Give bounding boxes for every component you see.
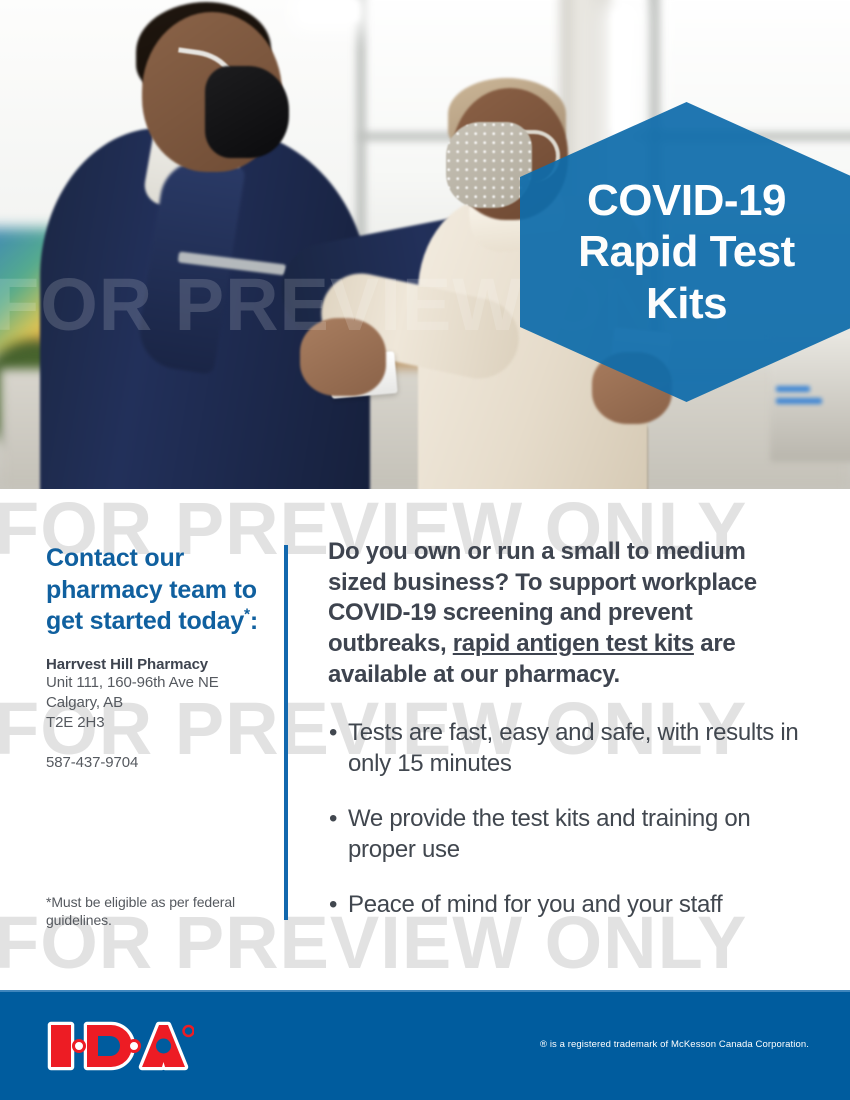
- list-item: We provide the test kits and training on…: [328, 803, 808, 865]
- contact-column: Contact our pharmacy team to get started…: [46, 543, 261, 771]
- column-divider: [284, 545, 288, 920]
- intro-paragraph: Do you own or run a small to medium size…: [328, 537, 808, 691]
- list-item: Tests are fast, easy and safe, with resu…: [328, 717, 808, 779]
- poster: FOR PREVIEW ONLY COVID-19 Rapid Test Kit…: [0, 0, 850, 1100]
- benefits-list: Tests are fast, easy and safe, with resu…: [328, 717, 808, 921]
- contact-heading: Contact our pharmacy team to get started…: [46, 543, 261, 638]
- pharmacy-name: Harrvest Hill Pharmacy: [46, 656, 261, 673]
- address-line: Calgary, AB: [46, 693, 261, 713]
- heading-colon: :: [250, 607, 258, 635]
- footer-top-rule: [0, 990, 850, 992]
- hero-photo: FOR PREVIEW ONLY COVID-19 Rapid Test Kit…: [0, 0, 850, 489]
- address-line: Unit 111, 160-96th Ave NE: [46, 673, 261, 693]
- man-face-mask: [205, 66, 289, 158]
- kiosk-led: [776, 398, 822, 404]
- woman-face-mask: [446, 122, 532, 208]
- content-area: Contact our pharmacy team to get started…: [0, 489, 850, 990]
- list-item: Peace of mind for you and your staff: [328, 889, 808, 920]
- ida-logo: [44, 1018, 194, 1074]
- address-line: T2E 2H3: [46, 713, 261, 733]
- ceiling-light: [300, 0, 360, 22]
- contact-heading-text: Contact our pharmacy team to get started…: [46, 544, 257, 635]
- intro-underlined-phrase: rapid antigen test kits: [453, 630, 694, 657]
- phone-number[interactable]: 587-437-9704: [46, 754, 261, 771]
- details-column: Do you own or run a small to medium size…: [328, 537, 808, 945]
- kiosk-led: [776, 386, 810, 392]
- trademark-notice: ® is a registered trademark of McKesson …: [540, 1039, 840, 1050]
- eligibility-footnote: *Must be eligible as per federal guideli…: [46, 893, 251, 930]
- badge-title: COVID-19 Rapid Test Kits: [560, 175, 813, 328]
